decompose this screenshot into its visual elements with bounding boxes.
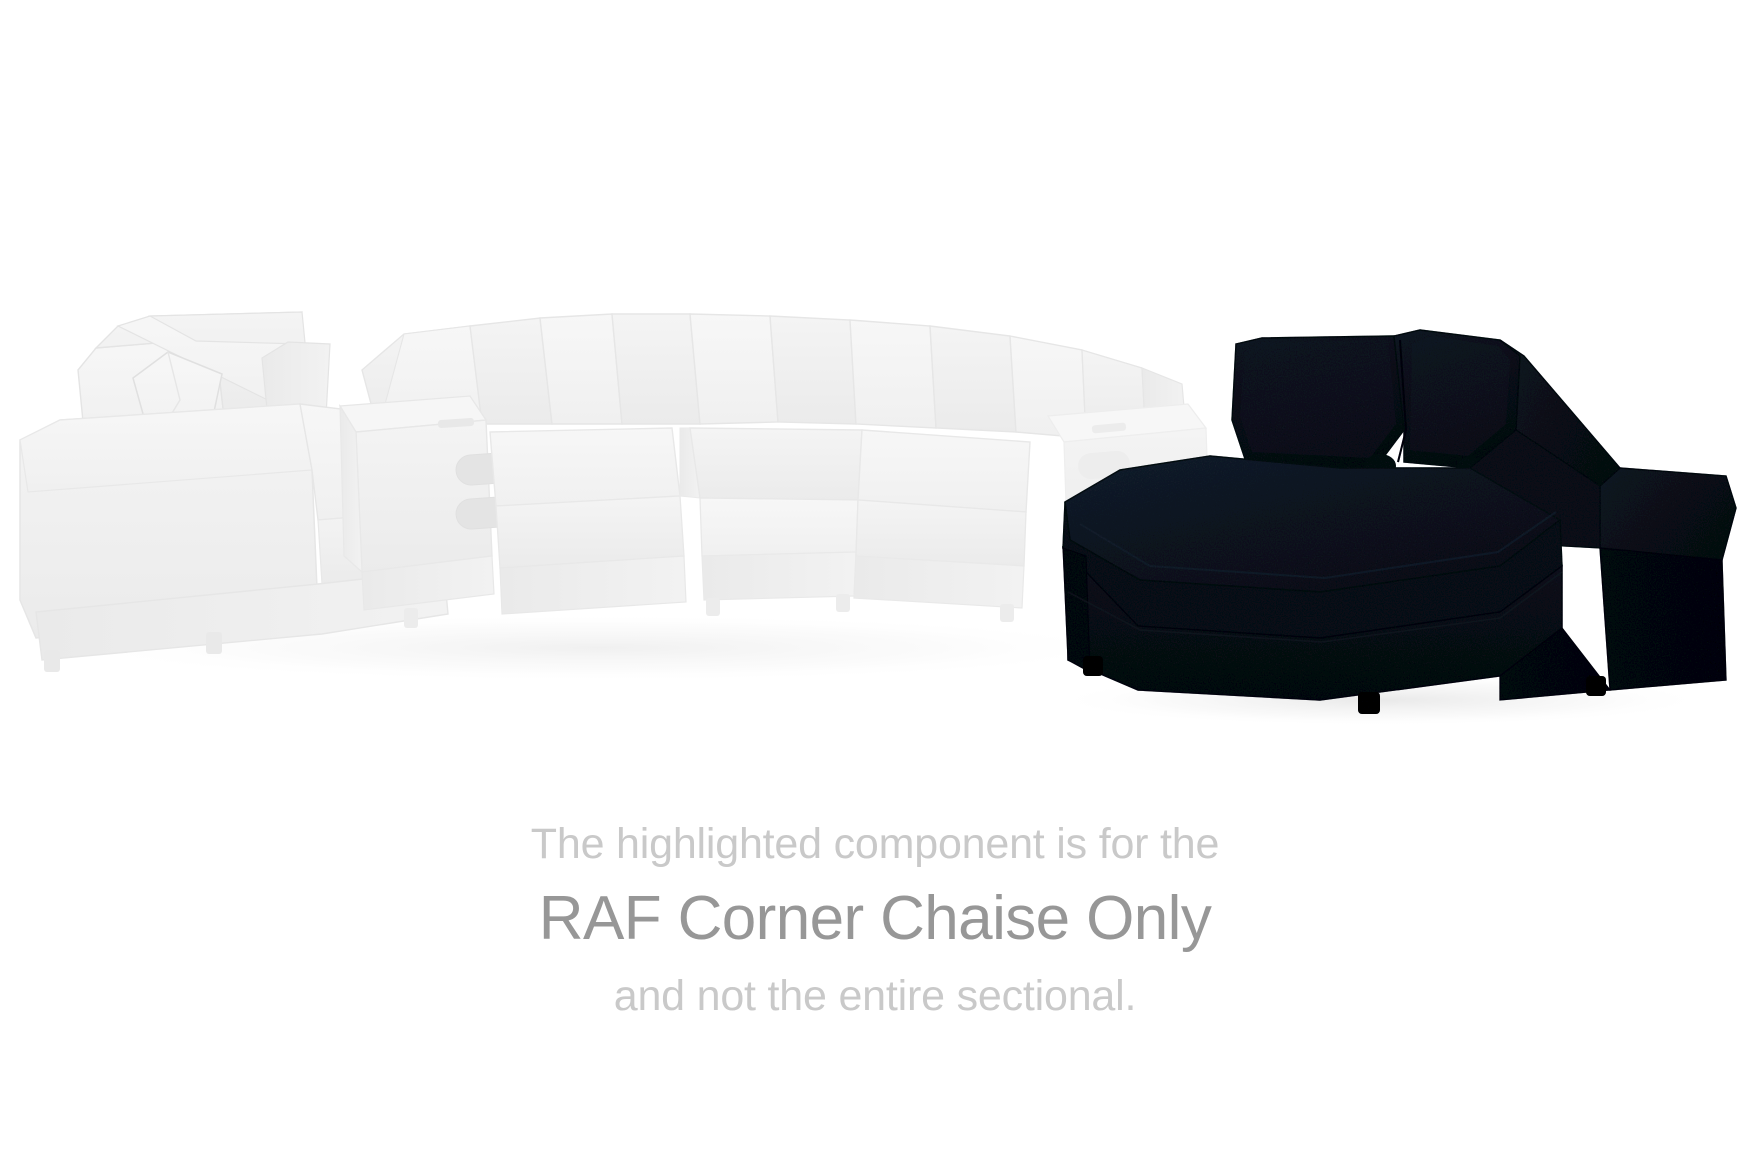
chaise-right-arm-front: [1600, 468, 1736, 560]
ghost-back-cushion: [540, 314, 622, 424]
ghost-base: [702, 552, 856, 600]
chaise-leg: [1586, 676, 1606, 696]
chaise-right-arm-outside: [1600, 548, 1726, 690]
ghost-leg: [44, 650, 60, 672]
caption-line-main: RAF Corner Chaise Only: [0, 884, 1750, 953]
ghost-back-cushion: [930, 326, 1016, 432]
ghost-leg: [1000, 604, 1014, 622]
ghost-leg: [836, 594, 850, 612]
chaise-leg: [1358, 692, 1380, 714]
ghost-corner-front: [700, 498, 858, 556]
ghost-back-cushion: [770, 316, 856, 424]
ghost-back-cushion: [690, 314, 778, 424]
ghost-seat-front: [856, 500, 1026, 566]
caption-block: The highlighted component is for the RAF…: [0, 818, 1750, 1022]
ghost-back-cushion: [612, 314, 700, 424]
ghost-seat-front: [496, 496, 684, 568]
ghost-back-cushion: [850, 320, 936, 428]
chaise-leg: [1083, 656, 1103, 676]
caption-line-bottom: and not the entire sectional.: [0, 970, 1750, 1022]
ghost-module-console-left: [340, 396, 515, 610]
sectional-sofa-illustration: [0, 0, 1750, 800]
ghost-leg: [706, 598, 720, 616]
ghost-back-cushion: [470, 318, 552, 424]
product-highlight-page: The highlighted component is for the RAF…: [0, 0, 1750, 1167]
ghost-module-corner-wedge: [690, 428, 862, 616]
chaise-back-cushion-left-highlight: [1240, 340, 1396, 458]
ghost-leg: [206, 632, 222, 654]
ghost-corner-seat: [690, 428, 862, 500]
ghost-seat-cushion: [858, 430, 1030, 512]
ghost-module-armless-right: [854, 430, 1030, 622]
ghost-console-face: [356, 420, 492, 572]
ghost-seat-cushion: [490, 428, 680, 506]
product-illustration: [0, 0, 1750, 800]
ghost-module-armless-left: [490, 428, 700, 614]
caption-line-top: The highlighted component is for the: [0, 818, 1750, 870]
ghost-leg: [404, 608, 418, 628]
